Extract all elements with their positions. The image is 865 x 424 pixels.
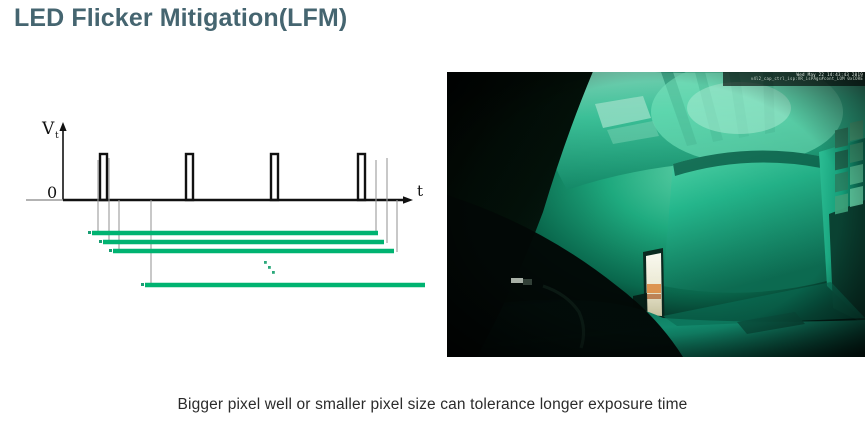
origin-label: 0 [47,183,57,202]
slide-caption: Bigger pixel well or smaller pixel size … [0,396,865,414]
exposure-duration-bars [92,233,425,285]
exposure-bar-start-ticks [88,231,144,286]
x-axis-label: t [417,182,423,200]
osd-strip [723,72,865,86]
room-photo [447,72,865,357]
lens-vignette [447,72,865,357]
y-axis-label: V [41,119,55,139]
vertical-ellipsis [264,261,275,274]
y-axis-label-subscript: t [55,131,59,141]
page-title: LED Flicker Mitigation(LFM) [14,4,347,33]
x-axis [26,196,413,204]
y-axis [59,122,66,200]
droplines [98,158,397,286]
timing-diagram: V t 0 t [0,110,440,300]
photo-panel: Wed May 22 14:43:43 2019 v4l2_cap_ctrl_i… [447,72,865,357]
led-pulse-train [100,154,365,200]
timing-diagram-svg: V t 0 t [0,110,440,300]
